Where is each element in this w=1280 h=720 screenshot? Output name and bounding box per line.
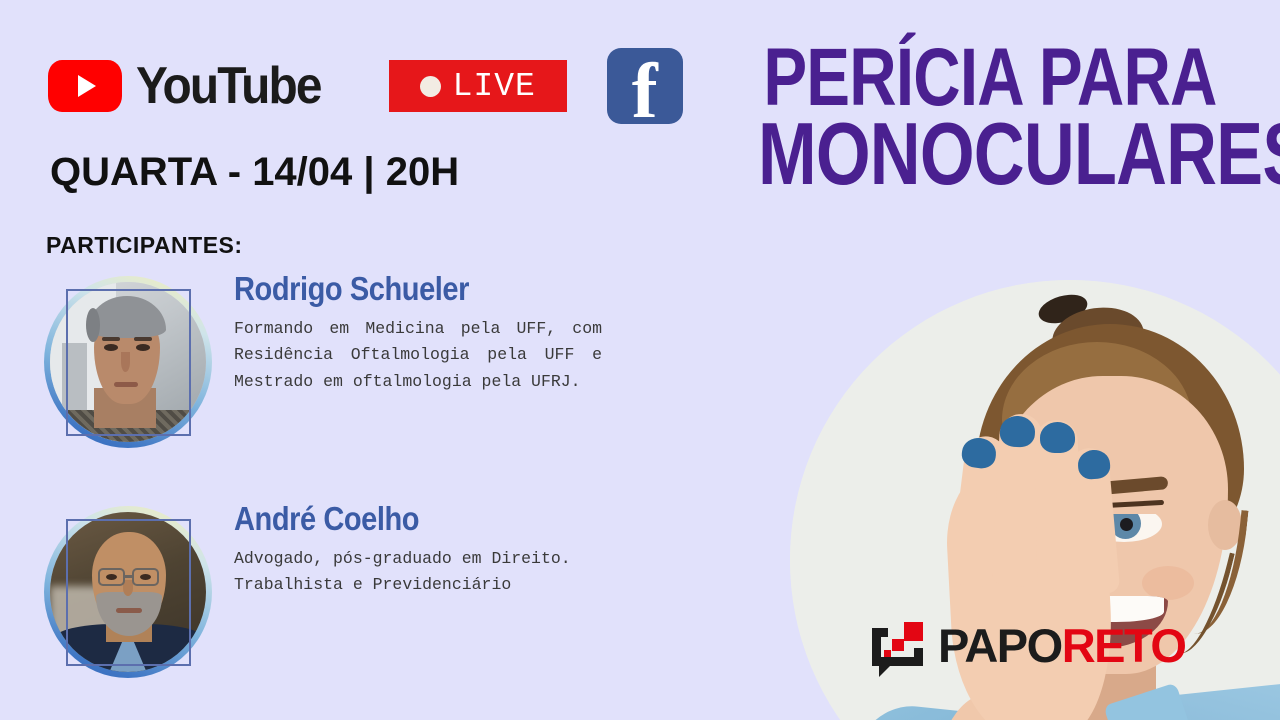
platform-badges-row: YouTube LIVE f [48, 48, 683, 124]
live-badge[interactable]: LIVE [389, 60, 567, 112]
facebook-f-icon: f [607, 52, 683, 124]
live-badge-label: LIVE [453, 70, 536, 103]
speech-bubble-pixels-icon [868, 612, 934, 678]
participant-name: André Coelho [234, 502, 604, 537]
participant-description: Advogado, pós-graduado em Direito. Traba… [234, 546, 602, 599]
headline-line-2: MONOCULARES [758, 117, 1222, 191]
left-panel: YouTube LIVE f QUARTA - 14/04 | 20H PART… [0, 0, 700, 720]
youtube-play-icon [48, 60, 122, 112]
headline-line-1: PERÍCIA PARA [758, 44, 1222, 113]
page-title: PERÍCIA PARA MONOCULARES [700, 44, 1280, 191]
participant-name: Rodrigo Schueler [234, 272, 604, 307]
schedule-text: QUARTA - 14/04 | 20H [50, 150, 459, 195]
avatar-photo-andre-coelho [50, 512, 206, 672]
participant-card-andre-coelho: André Coelho Advogado, pós-graduado em D… [38, 502, 654, 684]
logo-text-papo: PAPO [938, 619, 1062, 672]
paporeto-logo: PAPORETO [868, 612, 1185, 678]
youtube-logo[interactable]: YouTube [48, 60, 337, 112]
logo-text-reto: RETO [1062, 619, 1186, 672]
avatar [38, 502, 218, 684]
avatar [38, 272, 218, 454]
participant-card-rodrigo-schueler: Rodrigo Schueler Formando em Medicina pe… [38, 272, 654, 454]
facebook-logo[interactable]: f [607, 48, 683, 124]
participant-description: Formando em Medicina pela UFF, com Resid… [234, 316, 602, 396]
participants-label: PARTICIPANTES: [46, 232, 243, 259]
avatar-photo-rodrigo-schueler [50, 282, 206, 442]
live-dot-icon [420, 76, 441, 97]
youtube-wordmark: YouTube [136, 60, 321, 112]
paporeto-wordmark: PAPORETO [938, 622, 1185, 669]
